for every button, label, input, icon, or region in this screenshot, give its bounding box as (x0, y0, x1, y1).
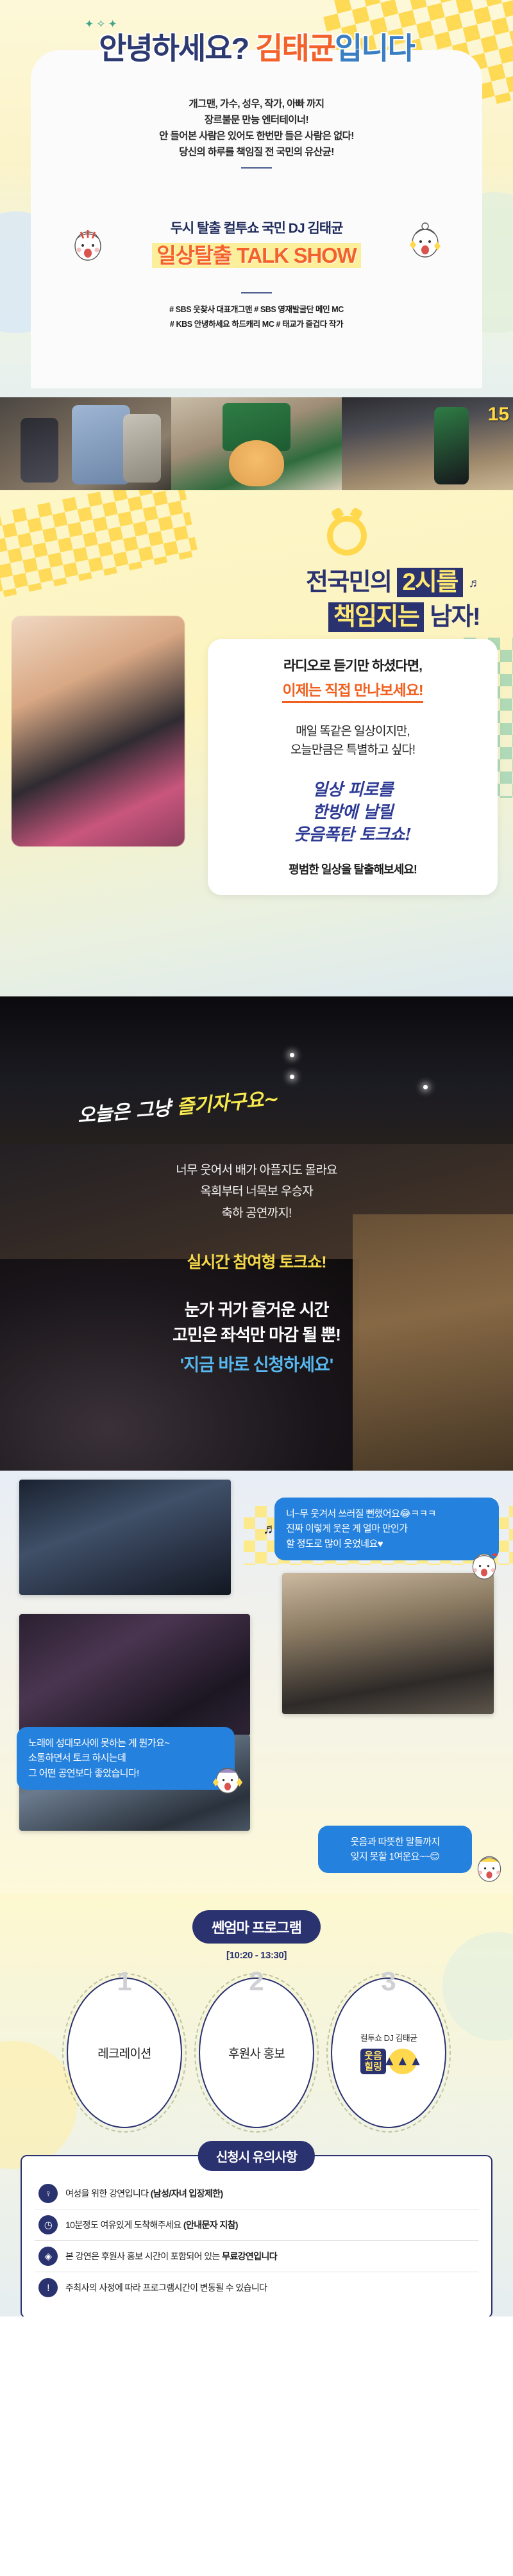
gallery-photo-2 (282, 1573, 494, 1714)
notice-title: 신청시 유의사항 (198, 2141, 315, 2171)
photo-badge-number: 15 (488, 404, 509, 425)
yellow-headline-2-highlight: 책임지는 (328, 602, 424, 632)
oval-2: 후원사 홍보 (199, 1977, 314, 2128)
dark-big-text: 눈가 귀가 즐거운 시간 고민은 좌석만 마감 될 뿐! (0, 1298, 513, 1348)
healing-logo-line-1: 웃음 (364, 2051, 382, 2061)
ticket-icon: ◈ (38, 2247, 58, 2266)
program-item-3-small: 컬투쇼 DJ 김태균 (360, 2031, 417, 2043)
card-script-3: 웃음폭탄 토크쇼! (223, 824, 482, 846)
female-icon: ♀ (38, 2184, 58, 2203)
gallery-photo-3 (19, 1614, 250, 1736)
yellow-headline-1-highlight: 2시를 (397, 568, 462, 597)
testimonial-bubble-1: 너~무 웃겨서 쓰러질 뻔했어요😂ㅋㅋㅋ 진짜 이렇게 웃은 게 얼마 만인가 … (274, 1498, 499, 1560)
page-title-suffix: 입니다 (335, 31, 414, 65)
notice-box: ♀ 여성을 위한 강연입니다 (남성/자녀 입장제한) ◷ 10분정도 여유있게… (21, 2155, 492, 2316)
dark-description: 너무 웃어서 배가 아플지도 몰라요 옥희부터 너목보 우승자 축하 공연까지! (0, 1160, 513, 1224)
checker-pattern-top-left (0, 490, 199, 600)
notice-row-1-bold: (남성/자녀 입장제한) (151, 2188, 223, 2199)
page-title-greeting: 안녕하세요? (99, 31, 248, 65)
music-note-icon: ♬ (263, 1521, 277, 1537)
divider-rule-2 (241, 292, 272, 293)
yellow-section: 전국민의 2시를 ♬ 책임지는 남자! 라디오로 듣기만 하셨다면, 이제는 직… (0, 490, 513, 996)
card-line-2: 이제는 직접 만나보세요! (282, 678, 423, 703)
healing-logo-line-2: 힐링 (364, 2061, 382, 2072)
hero-section: ✦✧✦ 안녕하세요? 김태균입니다 개그맨, 가수, 성우, 작가, 아빠 까지… (0, 0, 513, 397)
program-item-2-number: 2 (249, 1966, 264, 1997)
photo-stage: 15 (342, 397, 513, 490)
bubble-1-line-3: 할 정도로 많이 웃었네요♥ (286, 1537, 487, 1551)
hero-desc-line-3: 안 들어본 사람은 있어도 한번만 들은 사람은 없다! (0, 128, 513, 144)
hero-desc-line-2: 장르불문 만능 엔터테이너! (0, 112, 513, 128)
bubble-3-line-1: 웃음과 따뜻한 말들까지 (330, 1835, 460, 1849)
notice-row-text: 여성을 위한 강연입니다 (남성/자녀 입장제한) (65, 2187, 223, 2200)
bubble-2-line-3: 그 어떤 공연보다 좋았습니다! (28, 1766, 223, 1781)
hashtag-list: # SBS 웃찾사 대표개그맨 # SBS 영재발굴단 메인 MC # KBS … (0, 300, 513, 332)
yellow-headline-1-pre: 전국민의 (306, 569, 397, 596)
bubble-3-line-2: 잊지 못할 1여운요~~😊 (330, 1849, 460, 1864)
notice-row-text: 본 강연은 후원사 홍보 시간이 포함되어 있는 무료강연입니다 (65, 2250, 277, 2263)
notice-row-1-pre: 여성을 위한 강연입니다 (65, 2188, 151, 2199)
program-item-3[interactable]: 3 컬투쇼 DJ 김태균 웃음 힐링 ▲▲▲ (331, 1977, 446, 2128)
program-time: [10:20 - 13:30] (0, 1950, 513, 1961)
show-title-text: 일상탈출 TALK SHOW (152, 243, 360, 268)
stage-ceiling-photo (0, 996, 513, 1144)
program-item-1[interactable]: 1 레크레이션 (67, 1977, 182, 2128)
testimonial-bubble-3: 웃음과 따뜻한 말들까지 잊지 못할 1여운요~~😊 (318, 1826, 472, 1874)
photo-radio-studio (0, 397, 171, 490)
hero-desc-line-1: 개그맨, 가수, 성우, 작가, 아빠 까지 (0, 96, 513, 112)
alarm-clock-icon (327, 516, 367, 556)
cartoon-face-right-icon (408, 221, 442, 260)
notice-row-2-pre: 10분정도 여유있게 도착해주세요 (65, 2220, 183, 2230)
card-line-1: 라디오로 듣기만 하셨다면, (223, 656, 482, 675)
page-title: 안녕하세요? 김태균입니다 (0, 33, 513, 63)
dark-line-3: 축하 공연까지! (0, 1203, 513, 1224)
music-note-icon: ♬ (469, 577, 480, 590)
gallery-photo-1 (19, 1480, 231, 1595)
card-script-2: 한방에 날릴 (223, 802, 482, 824)
testimonial-bubble-2: 노래에 성대모사에 못하는 게 뭔가요~ 소통하면서 토크 하시는데 그 어떤 … (17, 1727, 235, 1790)
yellow-headline-2: 책임지는 남자! (328, 597, 480, 632)
program-title: 쎈엄마 프로그램 (192, 1910, 321, 1944)
card-script-text: 일상 피로를 한방에 날릴 웃음폭탄 토크쇼! (223, 779, 482, 846)
smiling-face-icon-3 (473, 1849, 505, 1885)
yellow-message-card: 라디오로 듣기만 하셨다면, 이제는 직접 만나보세요! 매일 똑같은 일상이지… (208, 639, 498, 895)
dark-cta-text: '지금 바로 신청하세요' (0, 1351, 513, 1376)
cartoon-face-left-icon (71, 224, 105, 263)
photo-strip: 15 (0, 397, 513, 490)
card-line-3b: 오늘만큼은 특별하고 싶다! (223, 741, 482, 759)
divider-rule (241, 167, 272, 169)
dark-section: 오늘은 그냥 즐기자구요~ 너무 웃어서 배가 아플지도 몰라요 옥희부터 너목… (0, 996, 513, 1471)
warning-icon: ! (38, 2278, 58, 2297)
bubble-2-line-2: 소통하면서 토크 하시는데 (28, 1751, 223, 1765)
notice-row-3-bold: 무료강연입니다 (222, 2251, 277, 2261)
hero-description: 개그맨, 가수, 성우, 작가, 아빠 까지 장르불문 만능 엔터테이너! 안 … (0, 96, 513, 176)
dark-line-1: 너무 웃어서 배가 아플지도 몰라요 (0, 1160, 513, 1181)
yellow-headline-2-post: 남자! (424, 604, 480, 631)
mountain-logo-icon: ▲▲▲ (389, 2049, 417, 2074)
dark-line-2: 옥희부터 너목보 우승자 (0, 1181, 513, 1202)
bubble-1-line-1: 너~무 웃겨서 쓰러질 뻔했어요😂ㅋㅋㅋ (286, 1507, 487, 1521)
smiling-face-icon-2 (212, 1760, 244, 1796)
dark-big-1: 눈가 귀가 즐거운 시간 (0, 1298, 513, 1323)
promo-landing-page: ✦✧✦ 안녕하세요? 김태균입니다 개그맨, 가수, 성우, 작가, 아빠 까지… (0, 0, 513, 2316)
notice-row: ◈ 본 강연은 후원사 홍보 시간이 포함되어 있는 무료강연입니다 (35, 2241, 478, 2272)
bubble-1-line-2: 진짜 이렇게 웃은 게 얼마 만인가 (286, 1521, 487, 1536)
program-items: 1 레크레이션 2 후원사 홍보 3 컬투쇼 DJ 김태균 (0, 1977, 513, 2128)
notice-row-text: 주최사의 사정에 따라 프로그램시간이 변동될 수 있습니다 (65, 2281, 267, 2294)
page-title-name: 김태균 (255, 31, 335, 65)
card-script-1: 일상 피로를 (223, 779, 482, 802)
photo-mascot (171, 397, 342, 490)
notice-row-text: 10분정도 여유있게 도착해주세요 (안내문자 지참) (65, 2218, 238, 2231)
healing-logo-badge: 웃음 힐링 ▲▲▲ (360, 2049, 417, 2075)
clock-icon: ◷ (38, 2215, 58, 2234)
gallery-section: ♬ 너~무 웃겨서 쓰러질 뻔했어요😂ㅋㅋㅋ 진짜 이렇게 웃은 게 얼마 만인… (0, 1471, 513, 1894)
oval-1: 레크레이션 (67, 1977, 182, 2128)
notice-row-2-bold: (안내문자 지참) (183, 2220, 238, 2230)
program-item-2-label: 후원사 홍보 (228, 2044, 285, 2061)
notice-section: 신청시 유의사항 ♀ 여성을 위한 강연입니다 (남성/자녀 입장제한) ◷ 1… (21, 2155, 492, 2316)
notice-row-4-pre: 주최사의 사정에 따라 프로그램시간이 변동될 수 있습니다 (65, 2283, 267, 2293)
smiling-face-icon (468, 1546, 500, 1582)
program-item-1-label: 레크레이션 (97, 2044, 151, 2061)
bubble-2-line-1: 노래에 성대모사에 못하는 게 뭔가요~ (28, 1736, 223, 1751)
notice-row-3-pre: 본 강연은 후원사 홍보 시간이 포함되어 있는 (65, 2251, 222, 2261)
notice-row: ! 주최사의 사정에 따라 프로그램시간이 변동될 수 있습니다 (35, 2272, 478, 2303)
dark-yellow-headline: 실시간 참여형 토크쇼! (0, 1250, 513, 1273)
hashtag-line-2: # KBS 안녕하세요 하드캐리 MC # 태교가 즐겁다 작가 (0, 317, 513, 332)
program-item-2[interactable]: 2 후원사 홍보 (199, 1977, 314, 2128)
oval-3: 컬투쇼 DJ 김태균 웃음 힐링 ▲▲▲ (331, 1977, 446, 2128)
notice-row: ♀ 여성을 위한 강연입니다 (남성/자녀 입장제한) (35, 2178, 478, 2209)
yellow-headline-1: 전국민의 2시를 ♬ (306, 562, 480, 597)
card-line-4: 평범한 일상을 탈출해보세요! (223, 861, 482, 877)
photo-singer (12, 616, 185, 846)
card-line-3a: 매일 똑같은 일상이지만, (223, 722, 482, 741)
sparkles-icon: ✦✧✦ (85, 18, 120, 31)
program-item-3-number: 3 (381, 1966, 396, 1997)
hero-desc-line-4: 당신의 하루를 책임질 전 국민의 유산균! (0, 144, 513, 160)
program-item-1-number: 1 (117, 1966, 131, 1997)
program-section: 쎈엄마 프로그램 [10:20 - 13:30] 1 레크레이션 2 후원사 홍… (0, 1894, 513, 2316)
hashtag-line-1: # SBS 웃찾사 대표개그맨 # SBS 영재발굴단 메인 MC (0, 302, 513, 317)
dark-big-2: 고민은 좌석만 마감 될 뿐! (0, 1323, 513, 1348)
card-line-3: 매일 똑같은 일상이지만, 오늘만큼은 특별하고 싶다! (223, 722, 482, 760)
notice-row: ◷ 10분정도 여유있게 도착해주세요 (안내문자 지참) (35, 2209, 478, 2241)
